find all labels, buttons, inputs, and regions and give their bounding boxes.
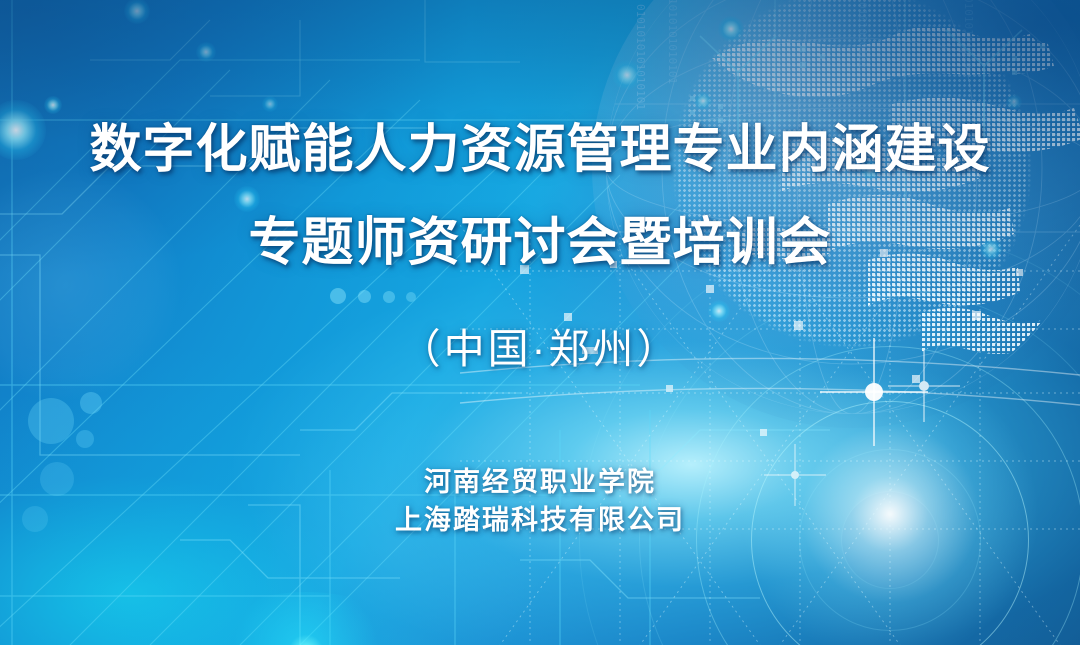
title-block: 数字化赋能人力资源管理专业内涵建设 专题师资研讨会暨培训会 [0,0,1080,269]
organizer-item: 河南经贸职业学院 [395,463,685,501]
organizer-item: 上海踏瑞科技有限公司 [395,501,685,539]
page-title-line-1: 数字化赋能人力资源管理专业内涵建设 [0,124,1080,176]
organizer-list: 河南经贸职业学院 上海踏瑞科技有限公司 [395,463,685,540]
page-title-line-2: 专题师资研讨会暨培训会 [0,217,1080,269]
subtitle-location: （中国·郑州） [400,315,681,375]
banner-content: 数字化赋能人力资源管理专业内涵建设 专题师资研讨会暨培训会 （中国·郑州） 河南… [0,0,1080,645]
conference-banner: 0101010101010101 1010101010101 010101010… [0,0,1080,645]
